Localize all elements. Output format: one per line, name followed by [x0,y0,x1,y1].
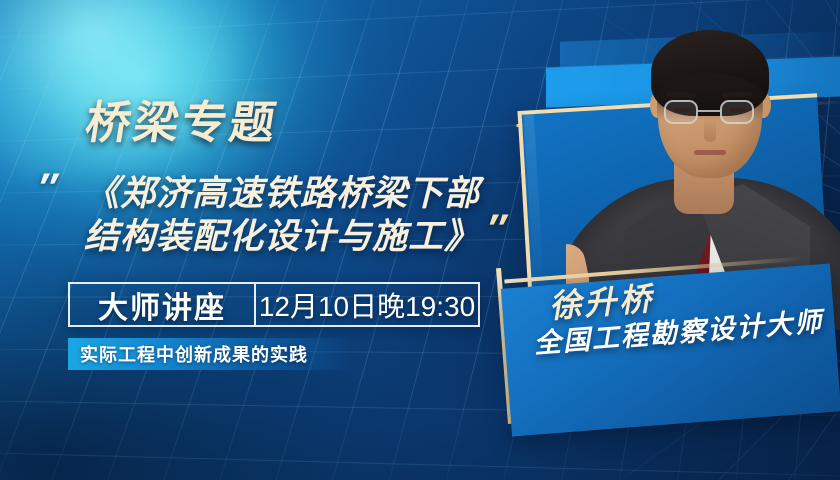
lecture-headline: 《郑济高速铁路桥梁下部 结构装配化设计与施工》 [84,172,504,259]
glasses-icon-right-lens [720,100,754,124]
lecture-label: 大师讲座 [98,283,226,327]
glasses-icon-bridge [698,110,720,112]
headline-line-1: 《郑济高速铁路桥梁下部 [84,172,504,215]
page-title: 桥梁专题 [82,100,281,145]
lecture-datetime-cell: 12月10日晚19:30 [256,284,478,325]
tagline-text: 实际工程中创新成果的实践 [68,341,308,367]
portrait-mouth [694,150,726,155]
speaker-plaque-text: 徐升桥 全国工程勘察设计大师 [530,268,840,411]
lecture-datetime: 12月10日晚19:30 [259,285,475,325]
promo-poster: 桥梁专题 ″ ″ 《郑济高速铁路桥梁下部 结构装配化设计与施工》 大师讲座 12… [0,0,840,480]
lecture-label-cell: 大师讲座 [70,284,256,325]
portrait-eye-left [674,108,690,112]
portrait-eye-right [730,108,746,112]
tagline-strip: 实际工程中创新成果的实践 [68,338,354,370]
lecture-info-box: 大师讲座 12月10日晚19:30 [68,282,480,327]
headline-line-2: 结构装配化设计与施工》 [84,215,504,258]
glasses-icon-left-lens [664,100,698,124]
portrait-nose [704,118,716,142]
